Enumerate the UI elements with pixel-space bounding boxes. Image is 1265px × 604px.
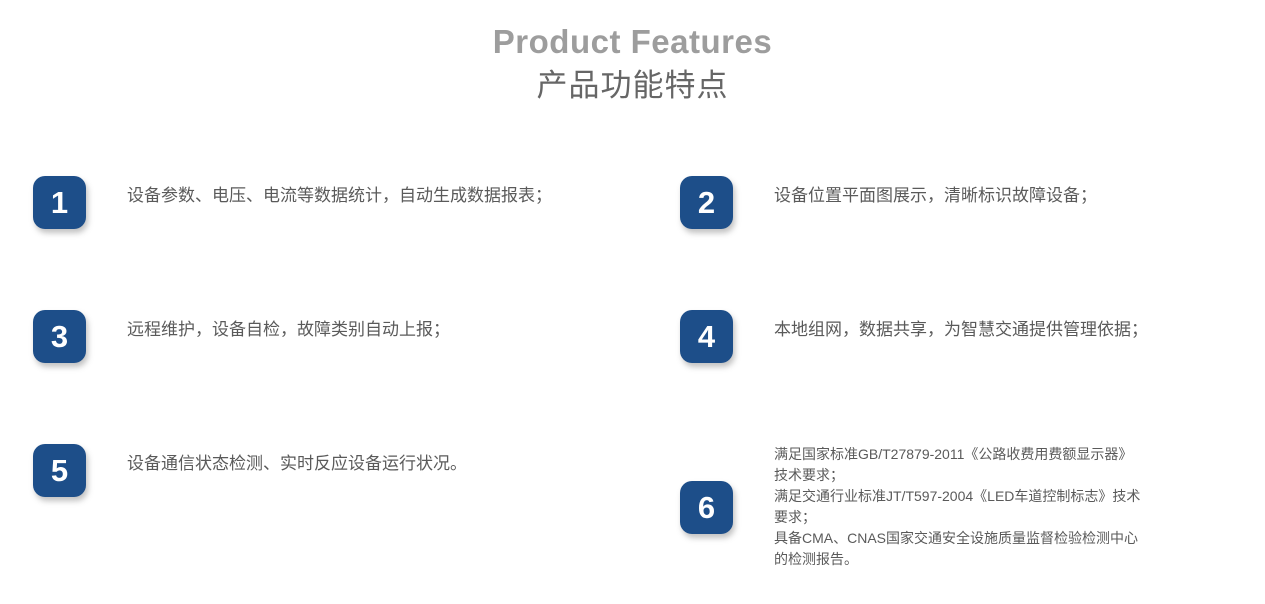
feature-number-badge-3: 3 <box>33 310 86 363</box>
feature-text-line: 的检测报告。 <box>774 549 1140 570</box>
feature-text-5: 设备通信状态检测、实时反应设备运行状况。 <box>86 444 467 478</box>
feature-column-right: 6 满足国家标准GB/T27879-2011《公路收费用费额显示器》技术要求；满… <box>670 444 1265 570</box>
feature-text-3: 远程维护，设备自检，故障类别自动上报； <box>86 310 450 344</box>
page-header: Product Features 产品功能特点 <box>0 0 1265 108</box>
features-grid: 1 设备参数、电压、电流等数据统计，自动生成数据报表； 2 设备位置平面图展示，… <box>0 176 1265 570</box>
feature-number-badge-1: 1 <box>33 176 86 229</box>
feature-column-right: 4 本地组网，数据共享，为智慧交通提供管理依据； <box>670 310 1265 363</box>
feature-column-left: 1 设备参数、电压、电流等数据统计，自动生成数据报表； <box>0 176 670 229</box>
feature-text-line: 具备CMA、CNAS国家交通安全设施质量监督检验检测中心 <box>774 528 1140 549</box>
feature-column-left: 3 远程维护，设备自检，故障类别自动上报； <box>0 310 670 363</box>
feature-item-2: 2 设备位置平面图展示，清晰标识故障设备； <box>680 176 1265 229</box>
feature-number-badge-5: 5 <box>33 444 86 497</box>
feature-text-2: 设备位置平面图展示，清晰标识故障设备； <box>733 176 1097 210</box>
feature-column-right: 2 设备位置平面图展示，清晰标识故障设备； <box>670 176 1265 229</box>
feature-row: 1 设备参数、电压、电流等数据统计，自动生成数据报表； 2 设备位置平面图展示，… <box>0 176 1265 229</box>
feature-text-line: 要求； <box>774 507 1140 528</box>
feature-text-line: 技术要求； <box>774 465 1140 486</box>
feature-number-badge-4: 4 <box>680 310 733 363</box>
feature-text-line: 满足交通行业标准JT/T597-2004《LED车道控制标志》技术 <box>774 486 1140 507</box>
feature-item-4: 4 本地组网，数据共享，为智慧交通提供管理依据； <box>680 310 1265 363</box>
feature-text-4: 本地组网，数据共享，为智慧交通提供管理依据； <box>733 310 1148 344</box>
feature-text-6: 满足国家标准GB/T27879-2011《公路收费用费额显示器》技术要求；满足交… <box>733 444 1140 570</box>
product-features-page: Product Features 产品功能特点 1 设备参数、电压、电流等数据统… <box>0 0 1265 604</box>
feature-number-badge-2: 2 <box>680 176 733 229</box>
feature-text-1: 设备参数、电压、电流等数据统计，自动生成数据报表； <box>86 176 552 210</box>
page-title-chinese: 产品功能特点 <box>0 64 1265 108</box>
page-title-english: Product Features <box>0 22 1265 62</box>
feature-item-1: 1 设备参数、电压、电流等数据统计，自动生成数据报表； <box>33 176 670 229</box>
feature-text-line: 满足国家标准GB/T27879-2011《公路收费用费额显示器》 <box>774 444 1140 465</box>
feature-item-5: 5 设备通信状态检测、实时反应设备运行状况。 <box>33 444 670 497</box>
feature-row: 5 设备通信状态检测、实时反应设备运行状况。 6 满足国家标准GB/T27879… <box>0 444 1265 570</box>
feature-item-3: 3 远程维护，设备自检，故障类别自动上报； <box>33 310 670 363</box>
feature-column-left: 5 设备通信状态检测、实时反应设备运行状况。 <box>0 444 670 570</box>
feature-item-6: 6 满足国家标准GB/T27879-2011《公路收费用费额显示器》技术要求；满… <box>680 444 1265 570</box>
feature-row: 3 远程维护，设备自检，故障类别自动上报； 4 本地组网，数据共享，为智慧交通提… <box>0 310 1265 363</box>
feature-number-badge-6: 6 <box>680 481 733 534</box>
